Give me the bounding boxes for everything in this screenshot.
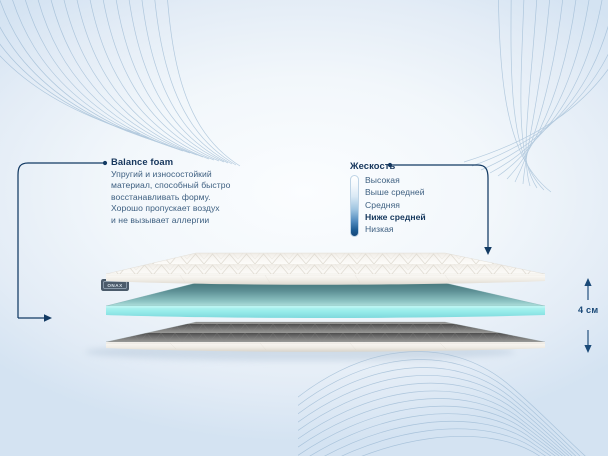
dimension-height-label: 4 см bbox=[578, 305, 598, 315]
callout-connectors bbox=[0, 0, 608, 456]
bullet-dot-icon bbox=[103, 161, 107, 165]
callout-line: Упругий и износостойкий bbox=[111, 169, 286, 180]
diagram-canvas: ONAX bbox=[0, 0, 608, 456]
firmness-level-low[interactable]: Низкая bbox=[365, 223, 426, 235]
firmness-title: Жескость bbox=[350, 160, 426, 171]
firmness-gradient-bar bbox=[350, 175, 359, 237]
callout-title-balance-foam: Balance foam bbox=[111, 156, 286, 168]
arrow-up-icon bbox=[584, 278, 591, 286]
callout-line: восстанавливать форму. bbox=[111, 192, 286, 203]
arrow-down-icon bbox=[584, 345, 591, 353]
firmness-level-list: Высокая Выше средней Средняя Ниже средне… bbox=[365, 174, 426, 235]
firmness-level-below-medium-selected[interactable]: Ниже средней bbox=[365, 211, 426, 223]
callout-firmness-scale: Жескость Высокая Выше средней Средняя Ни… bbox=[350, 160, 426, 237]
arrow-down-icon bbox=[484, 247, 492, 255]
callout-line: Хорошо пропускает воздух bbox=[111, 203, 286, 214]
firmness-level-medium[interactable]: Средняя bbox=[365, 199, 426, 211]
callout-description-balance-foam: Упругий и износостойкий материал, способ… bbox=[111, 169, 286, 226]
callout-balance-foam: Balance foam Упругий и износостойкий мат… bbox=[111, 156, 286, 226]
callout-line: материал, способный быстро bbox=[111, 180, 286, 191]
callout-line: и не вызывает аллергии bbox=[111, 215, 286, 226]
arrow-right-icon bbox=[44, 314, 52, 322]
firmness-level-above-medium[interactable]: Выше средней bbox=[365, 186, 426, 198]
firmness-level-high[interactable]: Высокая bbox=[365, 174, 426, 186]
